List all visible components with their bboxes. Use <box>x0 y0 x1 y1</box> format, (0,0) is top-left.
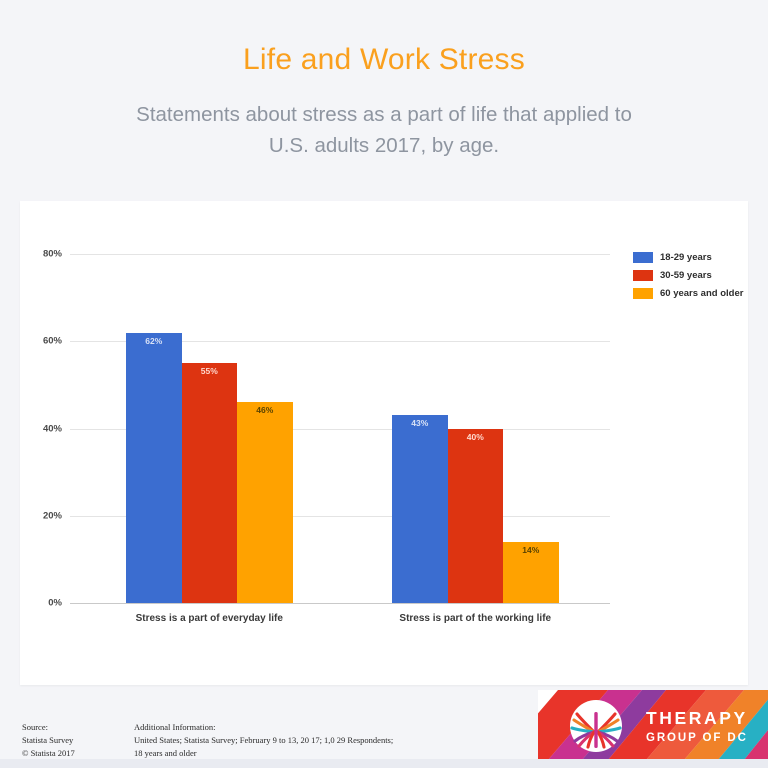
bar-value-label: 55% <box>182 367 238 376</box>
infographic-page: Life and Work Stress Statements about st… <box>0 0 768 768</box>
page-title: Life and Work Stress <box>0 42 768 78</box>
logo-name-top: THERAPY <box>646 708 748 728</box>
footer-info-line-1: United States; Statista Survey; February… <box>134 734 393 747</box>
bar-2-30-59-years[interactable]: 40% <box>448 429 504 604</box>
chart-card: 0%20%40%60%80%62%55%46%Stress is a part … <box>20 201 748 685</box>
bar-value-label: 46% <box>237 406 293 415</box>
x-axis-category-label-2: Stress is part of the working life <box>399 613 551 624</box>
footer-info-block: Additional Information: United States; S… <box>134 721 393 761</box>
y-axis-tick-40%: 40% <box>20 423 62 434</box>
legend-item-60-plus[interactable]: 60 years and older <box>633 285 743 301</box>
page-subtitle: Statements about stress as a part of lif… <box>79 100 689 162</box>
bar-1-18-29-years[interactable]: 62% <box>126 333 182 603</box>
legend-swatch-30-59 <box>633 270 653 281</box>
y-axis-tick-0%: 0% <box>20 598 62 609</box>
gridline-80% <box>70 254 610 255</box>
logo-wordmark: THERAPY GROUP OF DC <box>646 708 748 744</box>
bar-2-18-29-years[interactable]: 43% <box>392 415 448 603</box>
legend-label-30-59: 30-59 years <box>660 270 712 281</box>
footer-info-heading: Additional Information: <box>134 721 393 734</box>
footer-source-name: Statista Survey <box>22 734 75 747</box>
y-axis-tick-20%: 20% <box>20 510 62 521</box>
bar-1-60-years-and-older[interactable]: 46% <box>237 402 293 603</box>
subtitle-line-2: U.S. adults 2017, by age. <box>269 134 499 157</box>
bar-value-label: 43% <box>392 419 448 428</box>
y-axis-tick-60%: 60% <box>20 336 62 347</box>
subtitle-line-1: Statements about stress as a part of lif… <box>136 103 632 126</box>
logo-name-bottom: GROUP OF DC <box>646 732 748 744</box>
legend-swatch-18-29 <box>633 252 653 263</box>
brand-logo: THERAPY GROUP OF DC <box>538 690 768 768</box>
legend-label-60-plus: 60 years and older <box>660 288 743 299</box>
legend-item-18-29[interactable]: 18-29 years <box>633 249 743 265</box>
bar-value-label: 14% <box>503 546 559 555</box>
chart-legend: 18-29 years 30-59 years 60 years and old… <box>633 249 743 303</box>
bar-1-30-59-years[interactable]: 55% <box>182 363 238 603</box>
y-axis-tick-80%: 80% <box>20 249 62 260</box>
chart-header: Life and Work Stress Statements about st… <box>0 0 768 162</box>
legend-label-18-29: 18-29 years <box>660 252 712 263</box>
gridline-0% <box>70 603 610 604</box>
x-axis-category-label-1: Stress is a part of everyday life <box>136 613 283 624</box>
bar-value-label: 40% <box>448 433 504 442</box>
logo-graphic: THERAPY GROUP OF DC <box>538 690 768 768</box>
bottom-strip <box>0 759 768 768</box>
legend-item-30-59[interactable]: 30-59 years <box>633 267 743 283</box>
legend-swatch-60-plus <box>633 288 653 299</box>
bar-value-label: 62% <box>126 337 182 346</box>
footer-source-heading: Source: <box>22 721 75 734</box>
bar-2-60-years-and-older[interactable]: 14% <box>503 542 559 603</box>
footer-source-block: Source: Statista Survey © Statista 2017 <box>22 721 75 761</box>
